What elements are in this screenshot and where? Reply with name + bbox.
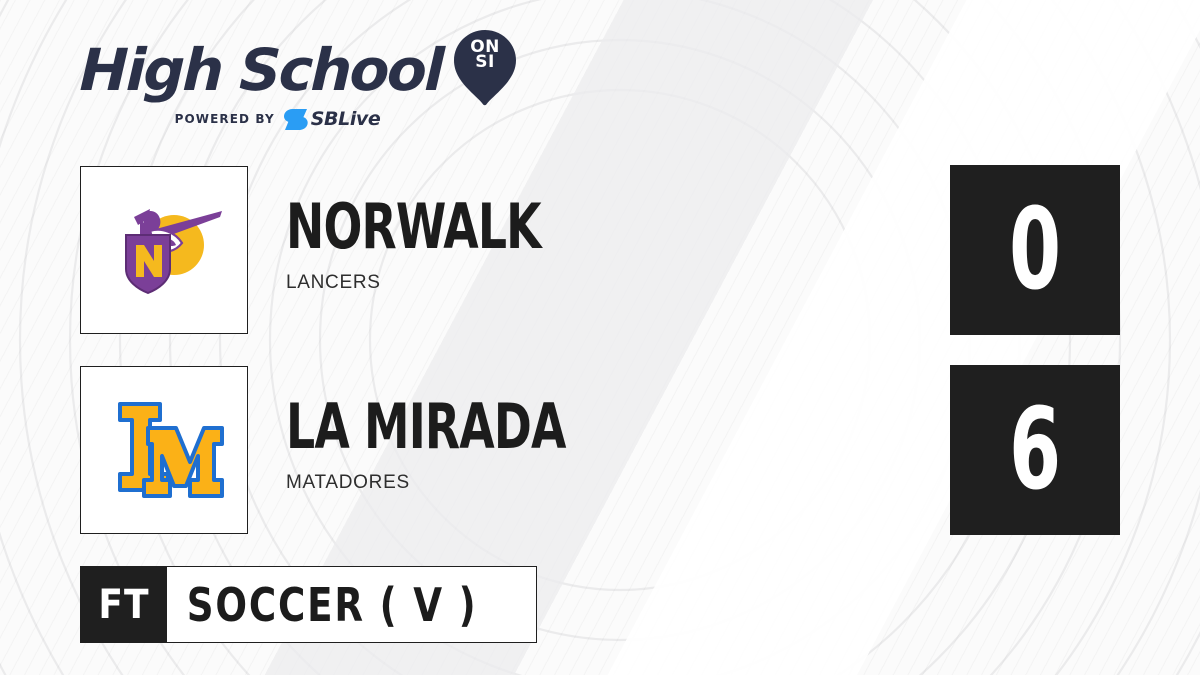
team-2-score: 6 — [1009, 394, 1061, 506]
powered-by-label: POWERED BY — [175, 112, 275, 126]
powered-by-row: POWERED BY SBLive — [80, 108, 475, 130]
on-si-pin-icon: ON SI — [454, 30, 516, 106]
brand-logo: High School ON SI POWERED BY SBLive — [80, 38, 520, 138]
team-2-logo-box — [80, 366, 248, 534]
status-sport-label: SOCCER ( V ) — [167, 567, 499, 642]
brand-wordmark-row: High School ON SI — [80, 38, 520, 102]
team-1-name: NORWALK — [286, 196, 541, 258]
team-2-mascot: MATADORES — [286, 472, 627, 494]
status-bar: FT SOCCER ( V ) — [80, 566, 537, 643]
sblive-bolt-icon — [284, 109, 308, 130]
brand-wordmark: High School — [79, 41, 443, 99]
team-2-info: LA MIRADA MATADORES — [286, 396, 627, 494]
team-1-mascot: LANCERS — [286, 272, 597, 294]
team-1-score-box: 0 — [950, 165, 1120, 335]
sblive-wordmark: SBLive — [311, 108, 381, 130]
team-1-info: NORWALK LANCERS — [286, 196, 597, 294]
team-2-name: LA MIRADA — [286, 396, 566, 458]
status-code-badge: FT — [81, 567, 167, 642]
pin-text: ON SI — [454, 40, 516, 70]
la-mirada-matadores-logo — [104, 390, 224, 510]
team-1-logo-box — [80, 166, 248, 334]
scoreboard-graphic: High School ON SI POWERED BY SBLive — [0, 0, 1200, 675]
norwalk-lancers-logo — [104, 195, 224, 305]
pin-line-2: SI — [454, 55, 516, 70]
team-1-score: 0 — [1009, 194, 1061, 306]
team-2-score-box: 6 — [950, 365, 1120, 535]
